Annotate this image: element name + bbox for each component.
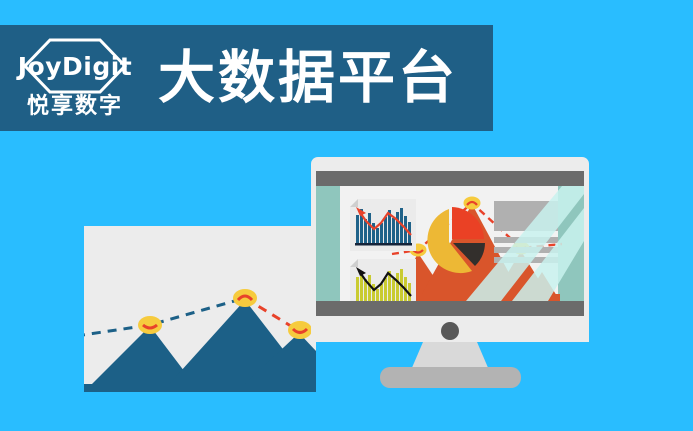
left-mountain-panel [84, 226, 316, 392]
illustration-canvas: JoyDigit 悦享数字 大数据平台 [0, 0, 693, 431]
logo: JoyDigit 悦享数字 [14, 32, 136, 124]
logo-wordmark: JoyDigit [18, 54, 133, 79]
monitor-top-bezel [316, 171, 584, 186]
monitor-bottom-bezel [316, 301, 584, 316]
mountain-shapes [84, 300, 316, 392]
banner-title: 大数据平台 [158, 50, 458, 107]
monitor-stand [311, 342, 589, 370]
data-marker [233, 289, 257, 307]
data-marker [138, 316, 162, 334]
monitor-screen [316, 186, 584, 301]
screen-glare [316, 186, 584, 301]
monitor-base [380, 367, 521, 388]
power-indicator-icon [441, 322, 459, 340]
data-marker [288, 321, 312, 339]
header-banner: JoyDigit 悦享数字 大数据平台 [0, 25, 493, 131]
hexagon-icon: JoyDigit [20, 38, 130, 94]
logo-subtitle: 悦享数字 [27, 96, 123, 118]
monitor [311, 157, 589, 387]
